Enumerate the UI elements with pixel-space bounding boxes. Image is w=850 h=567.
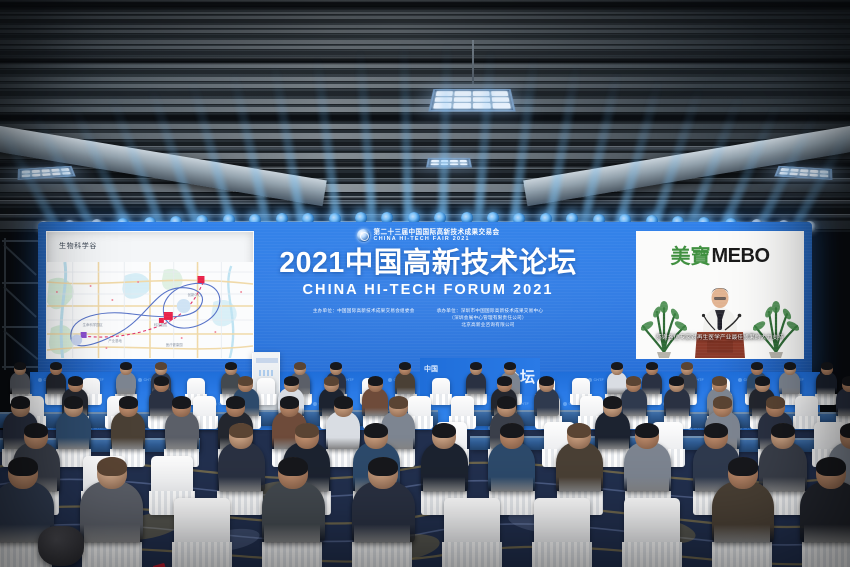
audience-person-hair <box>497 396 516 408</box>
audience-chair <box>444 498 500 567</box>
mebo-brand-cn: 美寶 <box>671 246 711 266</box>
audience-person <box>218 442 265 492</box>
audience-person-hair <box>238 376 253 386</box>
live-subtitle: 感谢各位专家对再生医学产业最佳成果的大力支持 <box>656 333 783 341</box>
chair-skirt <box>622 542 682 567</box>
chair-skirt <box>532 542 592 567</box>
organizer-line3: 北京高新业咨询有限公司 <box>433 321 543 328</box>
organizer-line2: （深圳会展中心管理有限责任公司） <box>433 314 543 321</box>
organizer-block: 主办单位：中国国际高新技术成果交易会组委会 承办单位：深圳市中国国际高新技术成果… <box>313 307 543 329</box>
audience-person <box>800 481 850 543</box>
chair-skirt <box>352 542 412 567</box>
audience-person <box>165 411 200 449</box>
audience-person <box>779 372 799 394</box>
audience-person-hair <box>11 396 30 408</box>
svg-text:科技园区: 科技园区 <box>154 322 168 327</box>
audience-person-hair <box>154 376 169 386</box>
audience-person <box>116 372 136 394</box>
audience-person <box>56 411 91 449</box>
audience-person-hair <box>567 423 591 438</box>
audience-person-hair <box>324 376 339 386</box>
chair-skirt <box>430 394 452 405</box>
svg-text:医疗健康园: 医疗健康园 <box>166 342 183 347</box>
audience-person <box>326 411 361 449</box>
audience-person <box>488 442 535 492</box>
audience-person-hair <box>771 423 795 438</box>
audience-person-hair <box>712 376 727 386</box>
left-screen-map[interactable]: 生物科学谷 <box>46 231 254 359</box>
hi-tech-fair-globe-logo-icon <box>357 229 370 242</box>
audience-person-hair <box>755 376 770 386</box>
audience-person <box>149 388 175 416</box>
mebo-logo: 美寶 MEBO <box>671 246 770 266</box>
audience-person <box>421 442 468 492</box>
audience-person-hair <box>334 396 353 408</box>
chair-skirt <box>262 542 322 567</box>
audience-person-hair <box>539 376 554 386</box>
audience-person-hair <box>704 423 728 438</box>
audience-person-hair <box>119 396 138 408</box>
audience-person <box>712 481 775 543</box>
chair-skirt <box>712 542 772 567</box>
audience-person <box>621 388 647 416</box>
audience-person-hair <box>8 457 38 476</box>
svg-text:产业基地: 产业基地 <box>108 338 122 343</box>
audience-person <box>362 388 388 416</box>
audience-person-hair <box>389 396 408 408</box>
organizer-line: 承办单位：深圳市中国国际高新技术成果交易中心 <box>437 307 544 314</box>
audience-person <box>836 388 850 416</box>
conference-hall-scene: 生物科学谷 <box>0 0 850 567</box>
chair-skirt <box>802 542 850 567</box>
audience-person <box>534 388 560 416</box>
fair-logo: 第二十三届中国国际高新技术成果交易会 CHINA HI-TECH FAIR 20… <box>357 229 500 242</box>
audience-person-hair <box>155 362 167 370</box>
audience-person-hair <box>713 396 732 408</box>
audience-person <box>262 481 325 543</box>
audience-seating <box>0 352 850 567</box>
audience-person-hair <box>603 396 622 408</box>
audience-person <box>46 372 66 394</box>
audience-person-hair <box>646 362 658 370</box>
audience-person <box>664 388 690 416</box>
audience-person-hair <box>368 457 398 476</box>
audience-person-hair <box>120 362 132 370</box>
red-booklet <box>153 563 172 567</box>
audience-person-hair <box>24 423 48 438</box>
audience-person-hair <box>497 376 512 386</box>
audience-person-hair <box>399 362 411 370</box>
chair-skirt <box>172 542 232 567</box>
host-line: 主办单位：中国国际高新技术成果交易会组委会 <box>313 307 415 314</box>
chair-skirt <box>82 542 142 567</box>
audience-person-hair <box>225 362 237 370</box>
audience-person-hair <box>229 423 253 438</box>
audience-person <box>10 372 30 394</box>
audience-person-hair <box>14 362 26 370</box>
audience-chair <box>174 498 230 567</box>
audience-person <box>816 372 836 394</box>
audience-person-hair <box>766 396 785 408</box>
audience-person <box>759 442 806 492</box>
audience-person-hair <box>500 423 524 438</box>
audience-person-hair <box>280 396 299 408</box>
audience-person-hair <box>470 362 482 370</box>
audience-person-hair <box>784 362 796 370</box>
audience-person-hair <box>432 423 456 438</box>
svg-text:生命科学园区: 生命科学园区 <box>83 322 104 327</box>
audience-person-hair <box>172 396 191 408</box>
audience-person-hair <box>368 376 383 386</box>
audience-person-hair <box>635 423 659 438</box>
audience-person <box>595 411 630 449</box>
right-screen-live-feed[interactable]: 美寶 MEBO <box>636 231 804 359</box>
audience-person-hair <box>364 423 388 438</box>
audience-person-hair <box>68 376 83 386</box>
audience-person-hair <box>330 362 342 370</box>
audience-person <box>642 372 662 394</box>
audience-person-hair <box>611 362 623 370</box>
audience-person-hair <box>751 362 763 370</box>
audience-person <box>624 442 671 492</box>
audience-person-hair <box>842 376 850 386</box>
forum-title-cn: 2021中国高新技术论坛 <box>279 249 576 279</box>
audience-person-hair <box>226 396 245 408</box>
audience-person-hair <box>50 362 62 370</box>
forum-title-en: CHINA HI-TECH FORUM 2021 <box>303 283 554 298</box>
mebo-brand-en: MEBO <box>712 246 770 266</box>
audience-chair <box>534 498 590 567</box>
audience-person-hair <box>284 376 299 386</box>
map-title: 生物科学谷 <box>59 241 97 251</box>
fair-name-cn: 第二十三届中国国际高新技术成果交易会 <box>374 229 500 236</box>
audience-chair <box>624 498 680 567</box>
audience-person <box>395 372 415 394</box>
audience-person-hair <box>728 457 758 476</box>
audience-person-hair <box>294 362 306 370</box>
fair-name-en: CHINA HI-TECH FAIR 2021 <box>374 236 470 242</box>
potted-plant-right-icon <box>753 296 799 358</box>
audience-person-hair <box>97 457 127 476</box>
audience-person-hair <box>669 376 684 386</box>
audience-person-hair <box>821 362 833 370</box>
map-graphic: 生命科学园区 产业基地 科技园区 创新中心 医疗健康园 <box>47 262 253 359</box>
audience-person <box>556 442 603 492</box>
audience-person <box>352 481 415 543</box>
svg-text:创新中心: 创新中心 <box>188 292 202 297</box>
stage-light-beams <box>0 0 850 235</box>
audience-person-hair <box>64 396 83 408</box>
chair-skirt <box>442 542 502 567</box>
audience-person <box>466 372 486 394</box>
audience-person-hair <box>816 457 846 476</box>
audience-person-hair <box>278 457 308 476</box>
audience-person-hair <box>295 423 319 438</box>
speaker-at-podium <box>683 270 757 358</box>
audience-person <box>80 481 143 543</box>
handbag <box>38 526 84 566</box>
audience-person <box>111 411 146 449</box>
audience-chair <box>257 378 275 404</box>
audience-chair <box>432 378 450 404</box>
audience-person-hair <box>681 362 693 370</box>
audience-person-hair <box>504 362 516 370</box>
potted-plant-left-icon <box>641 296 687 358</box>
audience-person-hair <box>626 376 641 386</box>
chair-skirt <box>815 394 837 405</box>
